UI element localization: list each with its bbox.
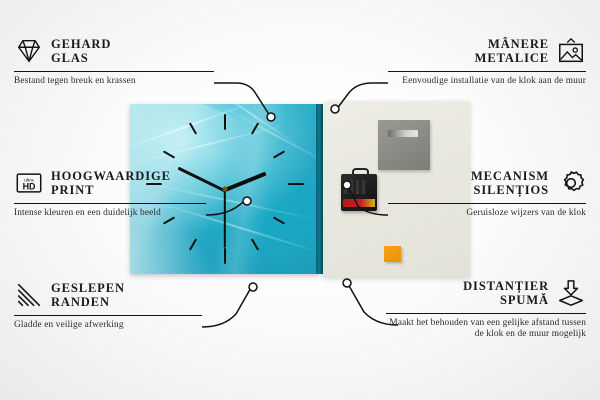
- feature-gehard-glas: GEHARD GLAS Bestand tegen breuk en krass…: [14, 36, 214, 87]
- callout-marker-distantier: [343, 279, 351, 287]
- diamond-icon: [14, 36, 44, 66]
- feature-divider: [388, 203, 586, 204]
- infographic-canvas: GEHARD GLAS Bestand tegen breuk en krass…: [0, 0, 600, 400]
- beveled-edge-icon: [14, 280, 44, 310]
- feature-divider: [14, 203, 206, 204]
- clock-tick: [224, 114, 226, 130]
- clock-tick: [224, 248, 226, 264]
- gear-icon: [556, 168, 586, 198]
- picture-frame-icon: [556, 36, 586, 66]
- feature-title: GEHARD GLAS: [51, 37, 111, 65]
- second-hand: [224, 190, 226, 248]
- feature-title: MÂNERE METALICE: [475, 37, 549, 65]
- feature-divider: [386, 313, 586, 314]
- metal-wall-plate-slot: [388, 130, 418, 137]
- clock-mechanism-label: [343, 199, 375, 207]
- feature-title: HOOGWAARDIGE PRINT: [51, 169, 171, 197]
- feature-header: DISTANȚIER SPUMĂ: [386, 278, 586, 308]
- feature-title: GESLEPEN RANDEN: [51, 281, 125, 309]
- feature-divider: [388, 71, 586, 72]
- clock-mechanism-detail: [344, 180, 366, 194]
- feature-geslepen-randen: GESLEPEN RANDEN Gladde en veilige afwerk…: [14, 280, 214, 331]
- feature-manere-metalice: MÂNERE METALICE Eenvoudige installatie v…: [388, 36, 586, 87]
- feature-title: DISTANȚIER SPUMĂ: [463, 279, 549, 307]
- feature-hoogwaardige-print: ultra HD HOOGWAARDIGE PRINT Intense kleu…: [14, 168, 214, 219]
- feature-header: ultra HD HOOGWAARDIGE PRINT: [14, 168, 214, 198]
- feature-divider: [14, 71, 214, 72]
- feature-divider: [14, 315, 202, 316]
- feature-header: MECANISM SILENȚIOS: [388, 168, 586, 198]
- clock-glass-edge: [316, 104, 323, 274]
- ultra-hd-icon: ultra HD: [14, 168, 44, 198]
- metal-wall-plate: [378, 120, 430, 170]
- feature-header: MÂNERE METALICE: [388, 36, 586, 66]
- foam-spacer: [384, 246, 401, 262]
- feature-mecanism-silentios: MECANISM SILENȚIOS Geruisloze wijzers va…: [388, 168, 586, 219]
- clock-tick: [288, 183, 304, 185]
- spacer-press-icon: [556, 278, 586, 308]
- feature-header: GEHARD GLAS: [14, 36, 214, 66]
- feature-header: GESLEPEN RANDEN: [14, 280, 214, 310]
- clock-hub: [223, 187, 228, 192]
- feature-title: MECANISM SILENȚIOS: [471, 169, 549, 197]
- callout-marker-randen: [249, 283, 257, 291]
- feature-distantier-spuma: DISTANȚIER SPUMĂ Maakt het behouden van …: [386, 278, 586, 341]
- clock-tick: [273, 216, 285, 224]
- svg-text:HD: HD: [23, 182, 36, 192]
